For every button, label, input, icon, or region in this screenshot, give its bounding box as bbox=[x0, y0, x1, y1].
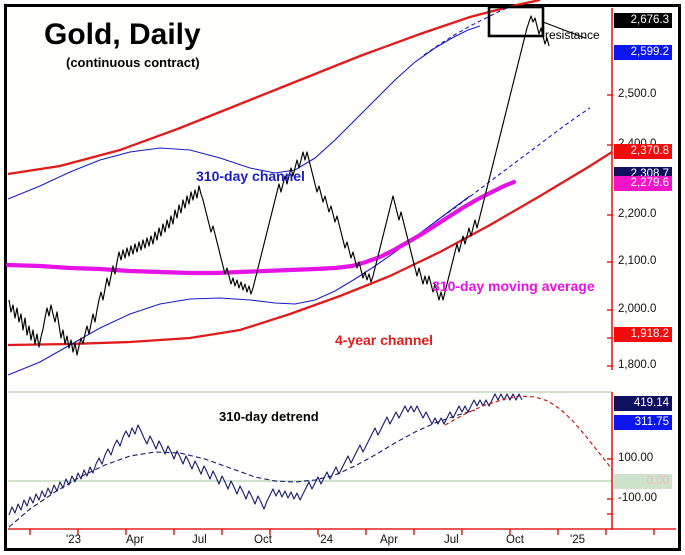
price-tick-label: 2,200.0 bbox=[618, 208, 656, 220]
time-label: Oct bbox=[506, 534, 524, 546]
time-label: '23 bbox=[66, 534, 81, 546]
price-tick-label: 2,100.0 bbox=[618, 255, 656, 267]
time-label: '25 bbox=[570, 534, 585, 546]
annotation-resistance: resistance bbox=[545, 28, 600, 42]
annotation-310-day-detrend: 310-day detrend bbox=[219, 409, 319, 424]
annotation-4-year-channel: 4-year channel bbox=[335, 332, 433, 348]
detrend-tick-label: 100.00 bbox=[618, 452, 653, 464]
time-label: '24 bbox=[318, 534, 333, 546]
four-year-channel-lower bbox=[8, 152, 612, 345]
price-tag-last: 2,599.2 bbox=[614, 45, 672, 60]
channel-310-lower-projection bbox=[436, 108, 590, 221]
time-label: Apr bbox=[380, 534, 398, 546]
price-tag-channel-lower: 1,918.2 bbox=[614, 327, 672, 342]
price-tag-moving-average: 2,279.6 bbox=[614, 176, 672, 191]
channel-310-lower bbox=[8, 196, 470, 375]
detrend-cycle-fit bbox=[9, 410, 475, 527]
detrend-tag-last: 311.75 bbox=[614, 415, 672, 430]
resistance-box bbox=[489, 7, 543, 36]
page-title: Gold, Daily bbox=[44, 18, 201, 52]
annotation-310-day-channel: 310-day channel bbox=[196, 168, 305, 184]
detrend-tag-peak: 419.14 bbox=[614, 396, 672, 411]
price-tag-channel-upper: 2,370.8 bbox=[614, 144, 672, 159]
time-axis-ticks bbox=[30, 529, 654, 535]
time-label: Apr bbox=[126, 534, 144, 546]
price-tag-high: 2,676.3 bbox=[614, 13, 672, 28]
moving-average-310 bbox=[8, 182, 514, 273]
detrend-tick-label: -100.00 bbox=[618, 492, 657, 504]
time-label: Jul bbox=[192, 534, 207, 546]
annotation-310-day-moving-average: 310-day moving average bbox=[432, 278, 595, 294]
time-label: Jul bbox=[444, 534, 459, 546]
detrend-tag-zero: 0.00 bbox=[614, 474, 672, 489]
gold-daily-chart: Gold, Daily (continuous contract) 310-da… bbox=[0, 0, 685, 555]
page-subtitle: (continuous contract) bbox=[66, 55, 200, 70]
price-tick-label: 2,500.0 bbox=[618, 88, 656, 100]
time-label: Oct bbox=[254, 534, 272, 546]
price-tick-label: 2,000.0 bbox=[618, 303, 656, 315]
price-tick-label: 1,800.0 bbox=[618, 359, 656, 371]
